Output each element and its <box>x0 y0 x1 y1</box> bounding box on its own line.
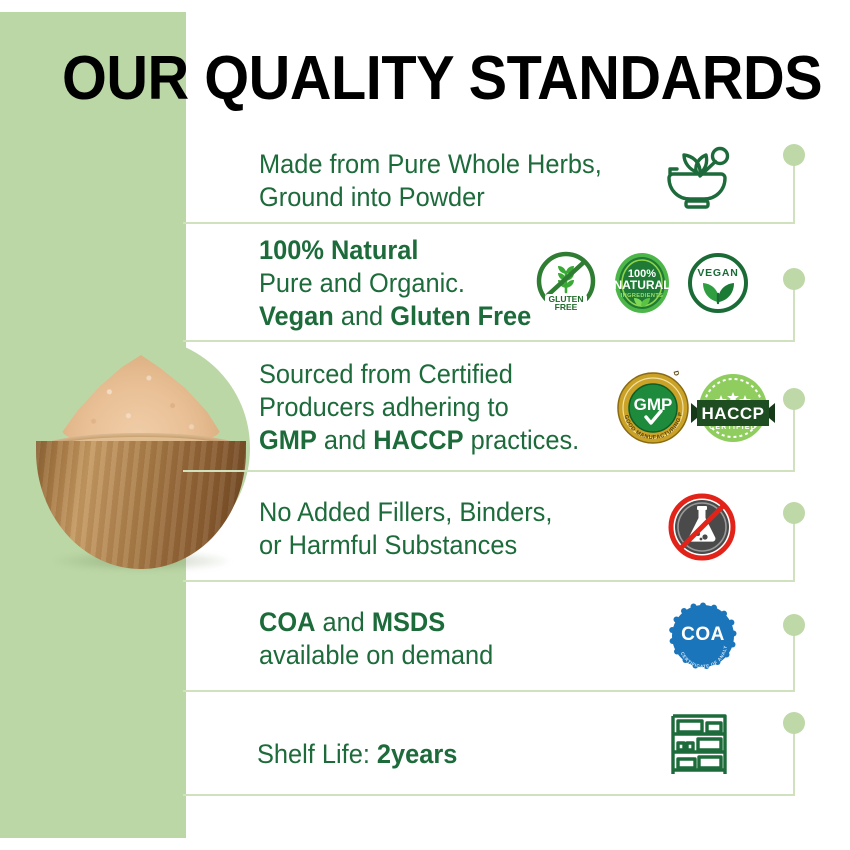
and-word: and <box>334 301 390 331</box>
gluten-free-label-2: FREE <box>555 302 578 312</box>
and-word: and <box>315 607 371 637</box>
vegan-badge: VEGAN <box>685 250 751 321</box>
row-icons-pure-whole-herbs <box>659 144 735 219</box>
row-connector-line <box>793 156 795 224</box>
row-icons-coa: COA CERTIFICATE OF ANALYSIS <box>669 602 737 675</box>
vegan-word: Vegan <box>259 301 334 331</box>
row-text-coa-msds: COA and MSDS available on demand <box>259 606 493 672</box>
standard-row-coa-msds: COA and MSDS available on demand <box>183 582 795 692</box>
gmp-certified-badge: CERTIFIED GOOD MANUFACTURING PRACTICE GM… <box>615 370 691 451</box>
row-text-natural-vegan-gluten-free: 100% Natural Pure and Organic. Vegan and… <box>259 234 531 333</box>
gluten-free-word: Gluten Free <box>390 301 531 331</box>
gmp-word: GMP <box>259 425 317 455</box>
standard-row-no-fillers: No Added Fillers, Binders, or Harmful Su… <box>183 472 795 582</box>
standard-row-natural-vegan-gluten-free: 100% Natural Pure and Organic. Vegan and… <box>183 224 795 342</box>
natural-label-3: INGREDIENTS <box>621 293 664 299</box>
row-separator-line <box>183 794 795 796</box>
practices-word: practices. <box>464 425 580 455</box>
row-endpoint-dot <box>783 144 805 166</box>
standard-row-shelf-life: Shelf Life: 2years <box>183 692 795 796</box>
row-endpoint-dot <box>783 712 805 734</box>
gluten-free-badge: GLUTEN FREE <box>533 250 599 321</box>
row-text-certified-producers: Sourced from Certified Producers adherin… <box>259 358 579 457</box>
row-endpoint-dot <box>783 502 805 524</box>
shelf-life-label: Shelf Life: <box>257 739 377 769</box>
msds-word: MSDS <box>372 607 445 637</box>
mortar-pestle-icon <box>659 144 735 219</box>
row-endpoint-dot <box>783 614 805 636</box>
row-icons-certifications: GLUTEN FREE 100% NATURAL INGREDIENTS <box>533 250 751 321</box>
row-icons-shelf <box>665 710 733 787</box>
coa-label: COA <box>681 624 725 645</box>
vegan-label: VEGAN <box>697 267 738 279</box>
no-chemicals-icon <box>665 490 739 569</box>
row-icons-no-chemicals <box>665 490 739 569</box>
row-connector-line <box>793 400 795 472</box>
shelf-rack-icon <box>665 710 733 787</box>
gmp-center-label: GMP <box>634 395 673 414</box>
row-icons-gmp-haccp: CERTIFIED GOOD MANUFACTURING PRACTICE GM… <box>615 370 775 451</box>
haccp-certified-badge: CERTIFIED HACCP <box>691 370 775 451</box>
coa-word: COA <box>259 607 315 637</box>
standard-row-certified-producers: Sourced from Certified Producers adherin… <box>183 342 795 472</box>
coa-badge: COA CERTIFICATE OF ANALYSIS <box>669 602 737 675</box>
standard-row-pure-whole-herbs: Made from Pure Whole Herbs, Ground into … <box>183 136 795 224</box>
row-connector-line <box>793 724 795 796</box>
natural-label-2: NATURAL <box>613 278 670 292</box>
infographic-page: OUR QUALITY STANDARDS Made from Pure Who… <box>0 0 850 850</box>
row-endpoint-dot <box>783 388 805 410</box>
and-word: and <box>317 425 373 455</box>
100-natural-badge: 100% NATURAL INGREDIENTS <box>609 250 675 321</box>
row-endpoint-dot <box>783 268 805 290</box>
row-text-no-fillers: No Added Fillers, Binders, or Harmful Su… <box>259 496 552 562</box>
row-text-shelf-life: Shelf Life: 2years <box>257 738 457 771</box>
shelf-life-value: 2years <box>377 739 457 769</box>
haccp-word: HACCP <box>373 425 463 455</box>
page-title: OUR QUALITY STANDARDS <box>62 48 769 110</box>
row-text-pure-whole-herbs: Made from Pure Whole Herbs, Ground into … <box>259 148 602 214</box>
haccp-label: HACCP <box>702 404 765 423</box>
row-connector-line <box>793 514 795 582</box>
